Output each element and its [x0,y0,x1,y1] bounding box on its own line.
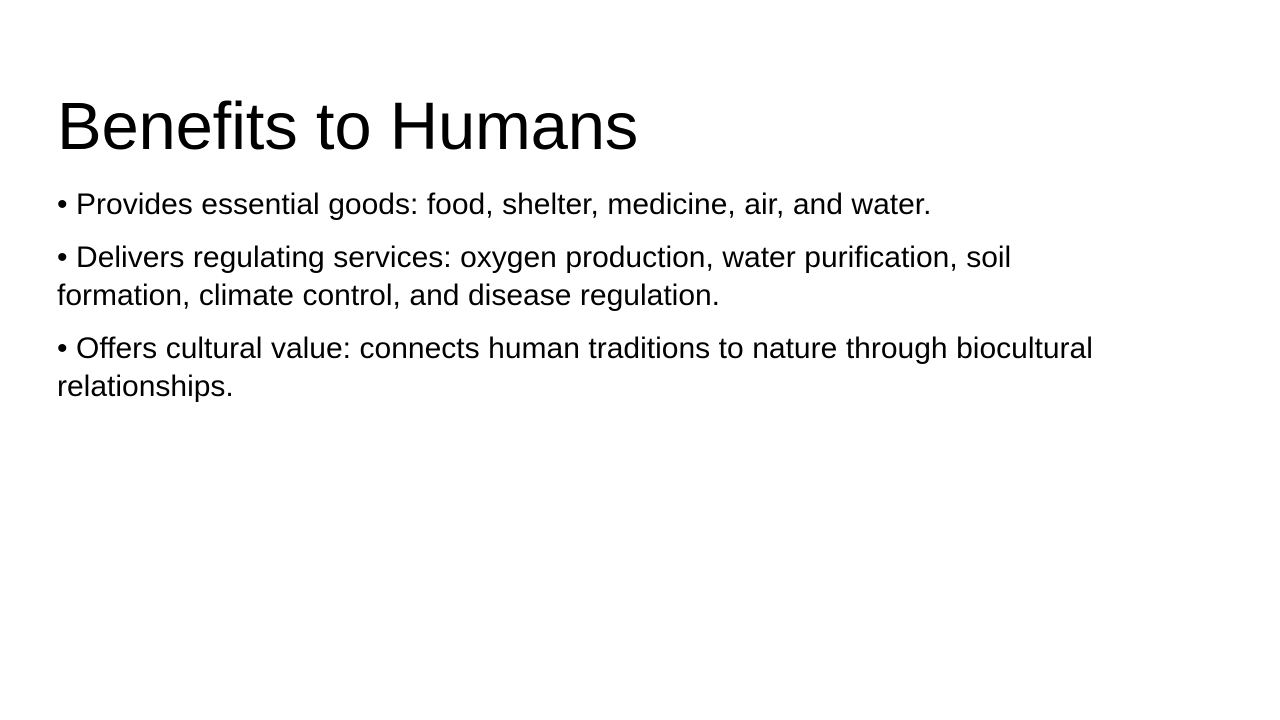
bullet-list: • Provides essential goods: food, shelte… [57,186,1152,406]
presentation-slide: Benefits to Humans • Provides essential … [0,0,1280,720]
list-item: • Delivers regulating services: oxygen p… [57,239,1152,315]
page-title: Benefits to Humans [57,89,1217,164]
list-item: • Provides essential goods: food, shelte… [57,186,1152,224]
list-item: • Offers cultural value: connects human … [57,330,1152,406]
